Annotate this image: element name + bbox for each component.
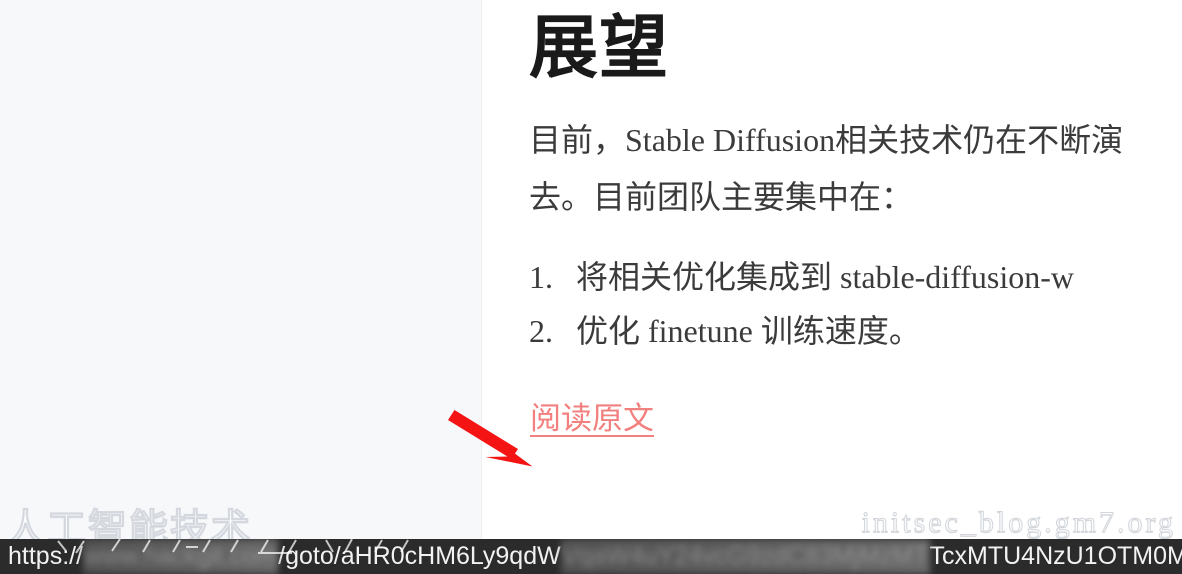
list-item: 1. 将相关优化集成到 stable-diffusion-w: [529, 250, 1182, 304]
page-heading: 展望: [529, 0, 1182, 86]
read-original-link[interactable]: 阅读原文: [530, 401, 654, 437]
intro-paragraph: 目前，Stable Diffusion相关技术仍在不断演 去。目前团队主要集中在…: [529, 86, 1182, 226]
article-inner: 展望 目前，Stable Diffusion相关技术仍在不断演 去。目前团队主要…: [529, 0, 1182, 437]
page-left-gutter: [0, 0, 481, 574]
status-url-suffix: TcxMTU4NzU1OTM0MjY4: [930, 539, 1182, 574]
status-url-redacted-token: VqaW4uY24vcG9zdC83MjMzMT: [561, 539, 930, 574]
browser-page: 展望 目前，Stable Diffusion相关技术仍在不断演 去。目前团队主要…: [0, 0, 1182, 574]
list-item: 2. 优化 finetune 训练速度。: [529, 304, 1182, 358]
ordered-list: 1. 将相关优化集成到 stable-diffusion-w 2. 优化 fin…: [529, 226, 1182, 358]
browser-status-bar: https://www.hackgit.com/goto/aHR0cHM6Ly9…: [0, 539, 1182, 574]
page-watermark-right: initsec_blog.gm7.org: [862, 506, 1176, 540]
article-content-column: 展望 目前，Stable Diffusion相关技术仍在不断演 去。目前团队主要…: [481, 0, 1182, 574]
page-watermark-left: 人工智能技术: [6, 498, 306, 544]
list-item-marker: 1.: [529, 250, 553, 304]
list-item-text: 将相关优化集成到 stable-diffusion-w: [576, 259, 1074, 295]
list-item-marker: 2.: [529, 304, 553, 358]
status-url-redacted-domain: www.hackgit.com: [83, 539, 278, 574]
status-url-middle: /goto/aHR0cHM6Ly9qdW: [278, 539, 561, 574]
status-url-prefix: https://: [8, 539, 83, 574]
list-item-text: 优化 finetune 训练速度。: [576, 313, 921, 349]
